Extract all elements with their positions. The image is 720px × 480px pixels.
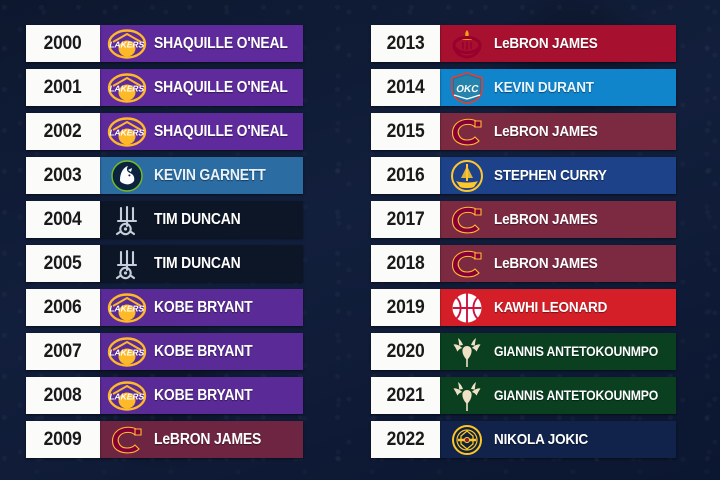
cavaliers-logo-svg [448,117,486,147]
year-label: 2015 [387,121,425,143]
cavaliers-logo [440,201,494,238]
year-box: 2005 [26,245,100,282]
year-label: 2013 [387,33,425,55]
year-box: 2006 [26,289,100,326]
player-name: KEVIN DURANT [494,79,594,96]
lakers-logo-svg: LAKERS [107,337,147,367]
lakers-logo-svg: LAKERS [107,117,147,147]
raptors-logo [440,289,494,326]
mvp-row: 2002 LAKERS SHAQUILLE O'NEAL [26,113,303,150]
mvp-row: 2014 OKC KEVIN DURANT [371,69,676,106]
team-bar: LeBRON JAMES [440,201,676,238]
team-bar: LAKERS SHAQUILLE O'NEAL [100,25,303,62]
mvp-row: 2009 LeBRON JAMES [26,421,303,458]
svg-text:LAKERS: LAKERS [108,347,145,357]
cavaliers-logo-svg [448,249,486,279]
mvp-row: 2021 GIANNIS ANTETOKOUNMPO [371,377,676,414]
team-bar: LeBRON JAMES [440,113,676,150]
year-label: 2019 [387,297,425,319]
year-box: 2009 [26,421,100,458]
team-bar: GIANNIS ANTETOKOUNMPO [440,377,676,414]
spurs-logo-svg [110,204,144,236]
year-label: 2022 [387,429,425,451]
year-label: 2004 [44,209,82,231]
spurs-logo [100,245,154,282]
year-label: 2006 [44,297,82,319]
team-bar: LAKERS SHAQUILLE O'NEAL [100,113,303,150]
team-bar: LeBRON JAMES [100,421,303,458]
mvp-row: 2003 KEVIN GARNETT [26,157,303,194]
cavaliers-logo [100,421,154,458]
mvp-row: 2016 STEPHEN CURRY [371,157,676,194]
bucks-logo [440,333,494,370]
mvp-row: 2004 TIM DUNCAN [26,201,303,238]
team-bar: LAKERS KOBE BRYANT [100,289,303,326]
year-label: 2021 [387,385,425,407]
spurs-logo-svg [110,248,144,280]
player-name: SHAQUILLE O'NEAL [154,79,288,97]
team-bar: GIANNIS ANTETOKOUNMPO [440,333,676,370]
bucks-logo-svg [452,380,482,412]
year-label: 2009 [44,429,82,451]
mvp-row: 2006 LAKERS KOBE BRYANT [26,289,303,326]
year-box: 2019 [371,289,440,326]
lakers-logo-svg: LAKERS [107,29,147,59]
mvp-row: 2017 LeBRON JAMES [371,201,676,238]
player-name: TIM DUNCAN [154,211,241,229]
mvp-row: 2018 LeBRON JAMES [371,245,676,282]
player-name: STEPHEN CURRY [494,167,607,184]
lakers-logo-svg: LAKERS [107,381,147,411]
bucks-logo-svg [452,336,482,368]
mvp-column-right: 2013 LeBRON JAMES2014 OKC KEVIN DURANT20… [371,25,676,465]
mvp-row: 2008 LAKERS KOBE BRYANT [26,377,303,414]
team-bar: STEPHEN CURRY [440,157,676,194]
team-bar: KEVIN GARNETT [100,157,303,194]
lakers-logo: LAKERS [100,113,154,150]
year-label: 2000 [44,33,82,55]
team-bar: LeBRON JAMES [440,245,676,282]
team-bar: TIM DUNCAN [100,201,303,238]
year-box: 2007 [26,333,100,370]
year-label: 2008 [44,385,82,407]
player-name: LeBRON JAMES [494,255,598,272]
mvp-row: 2001 LAKERS SHAQUILLE O'NEAL [26,69,303,106]
cavaliers-logo [440,245,494,282]
mvp-winners-board: 2000 LAKERS SHAQUILLE O'NEAL2001 LAKERS … [0,0,720,480]
raptors-logo-svg [451,292,483,324]
year-box: 2017 [371,201,440,238]
mvp-row: 2000 LAKERS SHAQUILLE O'NEAL [26,25,303,62]
team-bar: TIM DUNCAN [100,245,303,282]
year-box: 2013 [371,25,440,62]
year-label: 2002 [44,121,82,143]
heat-logo-svg [450,29,484,59]
player-name: SHAQUILLE O'NEAL [154,123,288,141]
lakers-logo: LAKERS [100,69,154,106]
player-name: LeBRON JAMES [494,211,598,228]
mvp-row: 2013 LeBRON JAMES [371,25,676,62]
year-label: 2014 [387,77,425,99]
year-box: 2016 [371,157,440,194]
year-box: 2002 [26,113,100,150]
year-box: 2003 [26,157,100,194]
mvp-row: 2020 GIANNIS ANTETOKOUNMPO [371,333,676,370]
mvp-row: 2005 TIM DUNCAN [26,245,303,282]
year-label: 2001 [44,77,82,99]
spurs-logo [100,201,154,238]
player-name: KOBE BRYANT [154,299,253,317]
mvp-column-left: 2000 LAKERS SHAQUILLE O'NEAL2001 LAKERS … [26,25,303,465]
player-name: LeBRON JAMES [154,431,261,449]
player-name: KOBE BRYANT [154,343,253,361]
cavaliers-logo-svg [108,425,146,455]
year-box: 2020 [371,333,440,370]
mvp-row: 2022 NIKOLA JOKIC [371,421,676,458]
player-name: KEVIN GARNETT [154,167,266,185]
team-bar: NIKOLA JOKIC [440,421,676,458]
svg-text:LAKERS: LAKERS [108,303,145,313]
year-box: 2014 [371,69,440,106]
year-box: 2018 [371,245,440,282]
year-label: 2018 [387,253,425,275]
year-box: 2001 [26,69,100,106]
team-bar: LAKERS SHAQUILLE O'NEAL [100,69,303,106]
player-name: GIANNIS ANTETOKOUNMPO [494,344,658,359]
svg-text:LAKERS: LAKERS [108,83,145,93]
nuggets-logo-svg [452,425,482,455]
team-bar: KAWHI LEONARD [440,289,676,326]
lakers-logo: LAKERS [100,333,154,370]
team-bar: LAKERS KOBE BRYANT [100,333,303,370]
lakers-logo: LAKERS [100,377,154,414]
year-label: 2017 [387,209,425,231]
bucks-logo [440,377,494,414]
year-label: 2003 [44,165,82,187]
lakers-logo-svg: LAKERS [107,73,147,103]
player-name: KAWHI LEONARD [494,299,607,316]
team-bar: OKC KEVIN DURANT [440,69,676,106]
player-name: TIM DUNCAN [154,255,241,273]
svg-text:OKC: OKC [455,84,479,95]
year-label: 2005 [44,253,82,275]
player-name: SHAQUILLE O'NEAL [154,35,288,53]
timberwolves-logo-svg [111,160,143,192]
player-name: KOBE BRYANT [154,387,253,405]
warriors-logo-svg [451,160,483,192]
year-label: 2007 [44,341,82,363]
svg-text:LAKERS: LAKERS [108,391,145,401]
svg-text:LAKERS: LAKERS [108,39,145,49]
thunder-logo-svg: OKC [448,72,486,104]
warriors-logo [440,157,494,194]
thunder-logo: OKC [440,69,494,106]
mvp-row: 2015 LeBRON JAMES [371,113,676,150]
cavaliers-logo-svg [448,205,486,235]
year-box: 2008 [26,377,100,414]
lakers-logo: LAKERS [100,289,154,326]
year-box: 2021 [371,377,440,414]
year-box: 2022 [371,421,440,458]
player-name: LeBRON JAMES [494,123,598,140]
mvp-row: 2007 LAKERS KOBE BRYANT [26,333,303,370]
year-box: 2000 [26,25,100,62]
year-label: 2020 [387,341,425,363]
nuggets-logo [440,421,494,458]
player-name: LeBRON JAMES [494,35,598,52]
team-bar: LAKERS KOBE BRYANT [100,377,303,414]
lakers-logo-svg: LAKERS [107,293,147,323]
player-name: NIKOLA JOKIC [494,431,588,448]
player-name: GIANNIS ANTETOKOUNMPO [494,388,658,403]
team-bar: LeBRON JAMES [440,25,676,62]
lakers-logo: LAKERS [100,25,154,62]
year-box: 2015 [371,113,440,150]
timberwolves-logo [100,157,154,194]
year-label: 2016 [387,165,425,187]
mvp-row: 2019 KAWHI LEONARD [371,289,676,326]
heat-logo [440,25,494,62]
cavaliers-logo [440,113,494,150]
year-box: 2004 [26,201,100,238]
svg-text:LAKERS: LAKERS [108,127,145,137]
